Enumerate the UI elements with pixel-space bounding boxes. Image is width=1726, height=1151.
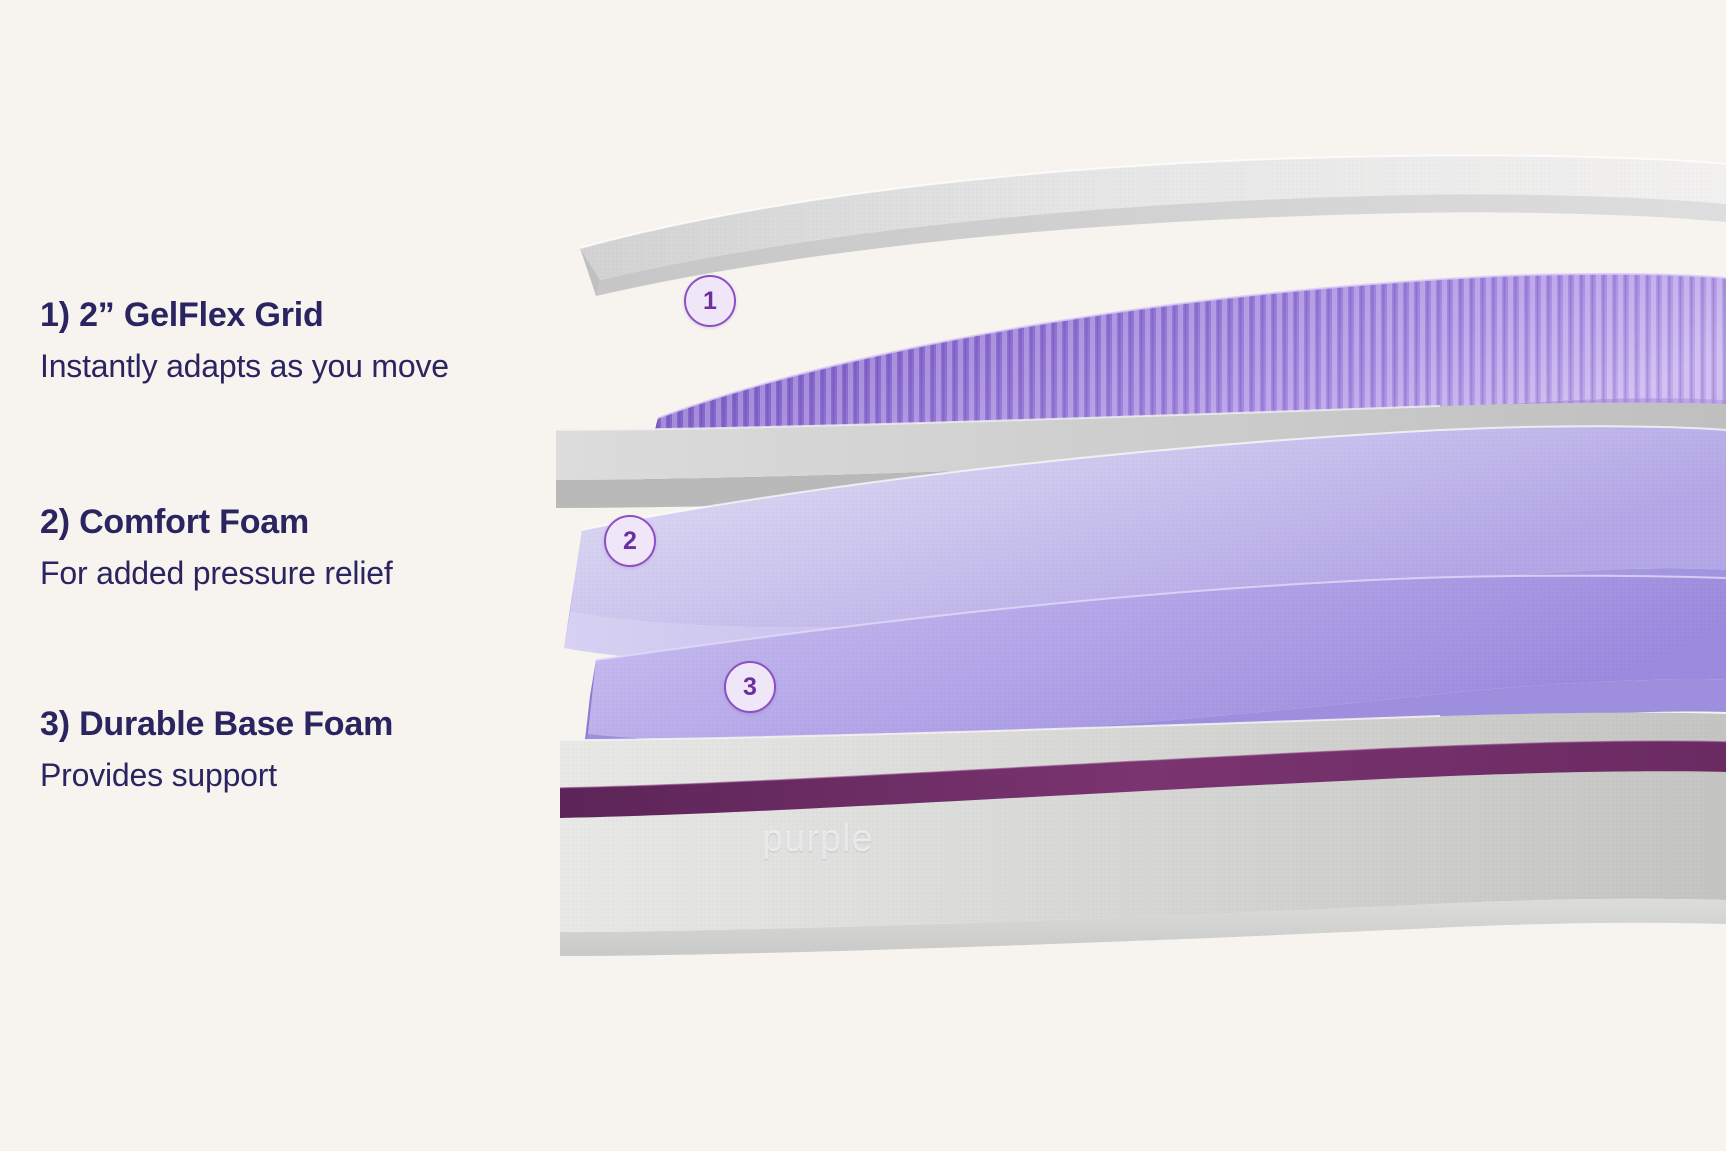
layer-badge-label: 3 [743, 673, 757, 702]
base-foam-layer-shape [560, 713, 1726, 956]
layer-badge-2[interactable]: 2 [604, 515, 656, 567]
mattress-cutaway-illustration [540, 100, 1726, 960]
layer-badge-1[interactable]: 1 [684, 275, 736, 327]
mattress-layers-infographic: 1) 2” GelFlex Grid Instantly adapts as y… [0, 0, 1726, 1151]
layer-badge-label: 1 [703, 287, 717, 316]
layer-badge-3[interactable]: 3 [724, 661, 776, 713]
layer-badge-label: 2 [623, 527, 637, 556]
